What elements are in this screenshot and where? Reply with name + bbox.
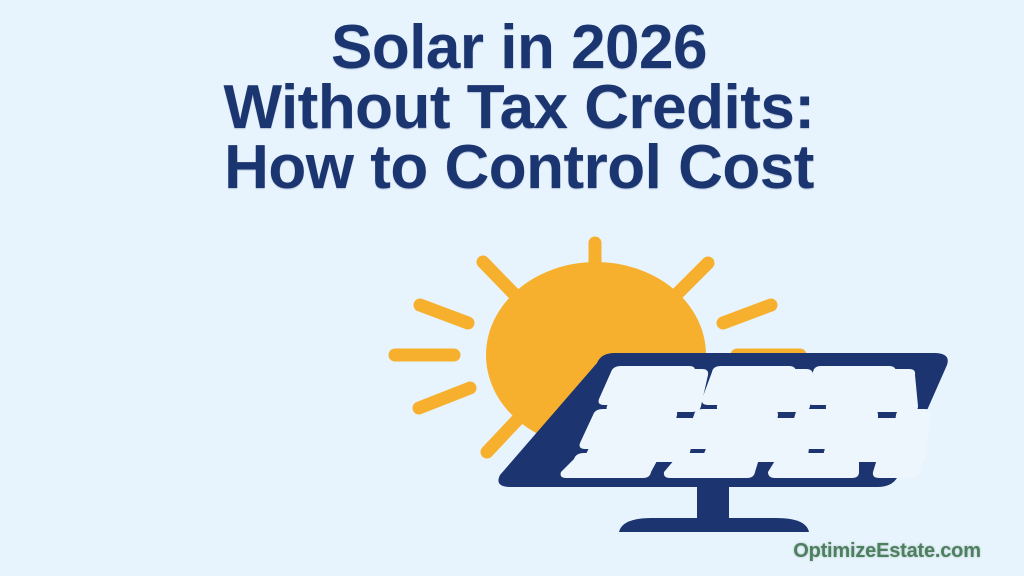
- panel-cell-r3c2: [664, 453, 759, 478]
- panel-cell-r1c3: [806, 366, 897, 405]
- title-line-1: Solar in 2026: [66, 18, 972, 78]
- graphic-canvas: Solar in 2026 Without Tax Credits: How t…: [0, 0, 1024, 576]
- sun-ray-ene: [723, 305, 771, 323]
- panel-cell-r3c1: [561, 453, 659, 478]
- sun-ray-nne: [675, 263, 708, 296]
- title-line-3: How to Control Cost: [66, 138, 972, 198]
- title-line-2: Without Tax Credits:: [66, 78, 972, 138]
- panel-cell-r2c4: [892, 409, 931, 449]
- panel-cell-r2c1: [580, 409, 678, 449]
- sun-ray-wsw: [419, 388, 470, 408]
- page-title: Solar in 2026 Without Tax Credits: How t…: [66, 18, 972, 198]
- panel-base: [619, 518, 809, 532]
- panel-cell-r3c3: [768, 453, 859, 478]
- panel-cell-r3c4: [873, 453, 924, 478]
- panel-cell-r2c3: [787, 409, 878, 449]
- panel-cell-r2c2: [683, 409, 778, 449]
- sun-ray-wnw: [420, 305, 468, 323]
- panel-cell-r1c2: [702, 366, 796, 405]
- panel-cell-r1c1: [599, 366, 696, 405]
- sun-ray-nnw: [483, 262, 516, 296]
- sun-ray-ssw: [487, 418, 519, 452]
- watermark-text: OptimizeEstate.com: [762, 540, 1012, 563]
